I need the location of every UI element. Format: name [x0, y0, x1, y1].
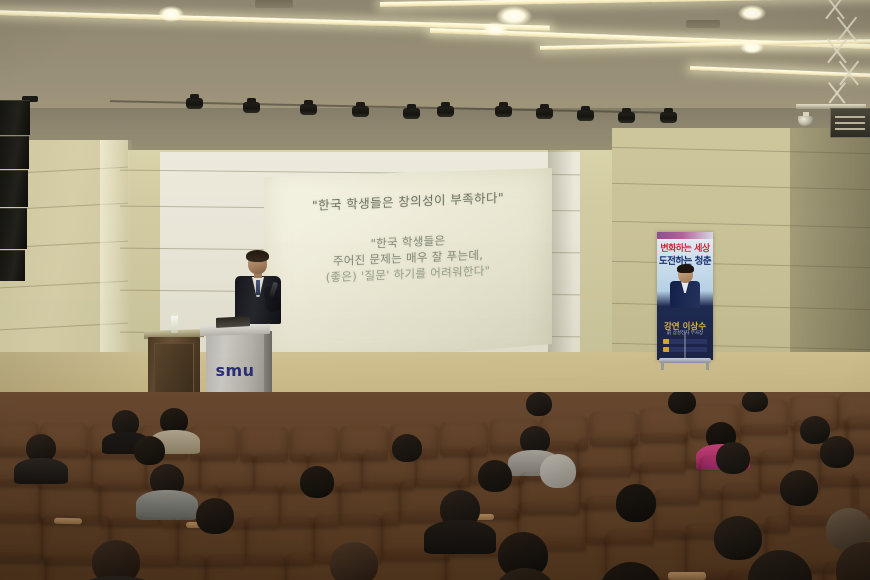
track-spotlight-icon — [495, 106, 512, 117]
audience-head — [392, 434, 422, 462]
track-spotlight-icon — [243, 102, 260, 113]
banner-portrait-photo — [670, 266, 700, 308]
podium-logo: smu — [204, 361, 266, 380]
water-bottle-cap — [172, 312, 177, 316]
audience-head — [714, 516, 762, 560]
audience-head — [526, 392, 552, 416]
track-spotlight-icon — [352, 106, 369, 117]
track-spotlight-icon — [536, 108, 553, 119]
banner-top-bar — [657, 232, 713, 239]
ceiling-light-glow — [482, 22, 508, 36]
banner-leg — [661, 362, 664, 370]
line-array-speaker-icon — [0, 96, 34, 286]
water-bottle — [171, 315, 178, 333]
ceiling-light-glow — [158, 6, 184, 22]
audience-head — [330, 542, 378, 580]
track-spotlight-icon — [300, 104, 317, 115]
audience-head — [540, 454, 576, 488]
seat — [366, 549, 446, 580]
track-spotlight-icon — [186, 98, 203, 109]
roll-up-banner: 변화하는 세상 도전하는 청춘 강연 이상수 前 삼성전자 부사장 — [657, 232, 713, 372]
track-spotlight-icon — [660, 112, 677, 123]
audience-head — [668, 392, 696, 414]
audience-head — [780, 470, 818, 506]
audience-head — [742, 392, 768, 412]
ceiling-light-glow — [740, 41, 764, 54]
cctv-dome-camera-icon — [798, 112, 814, 127]
seat — [0, 554, 46, 580]
audience-head — [92, 540, 140, 580]
audience-head — [716, 442, 750, 474]
ceiling-vent-icon — [686, 20, 720, 28]
audience-head — [196, 498, 234, 534]
auditorium-photo: "한국 학생들은 창의성이 부족하다" "한국 학생들은 주어진 문제는 매우 … — [0, 0, 870, 580]
track-spotlight-icon — [618, 112, 635, 123]
audience-head — [134, 436, 165, 465]
audience-shoulders — [136, 490, 198, 520]
banner-leg — [706, 362, 709, 370]
track-spotlight-icon — [577, 110, 594, 121]
wall-equipment-box — [830, 108, 870, 138]
audience-head — [56, 496, 94, 532]
projection-screen: "한국 학생들은 창의성이 부족하다" "한국 학생들은 주어진 문제는 매우 … — [264, 168, 552, 368]
banner-base — [659, 358, 711, 363]
audience-head — [478, 460, 512, 492]
seat — [206, 555, 286, 580]
ceiling-vent-icon — [255, 0, 293, 8]
track-spotlight-icon — [437, 106, 454, 117]
audience-seating — [0, 392, 870, 580]
track-spotlight-icon — [403, 108, 420, 119]
slide-text-block: "한국 학생들은 창의성이 부족하다" "한국 학생들은 주어진 문제는 매우 … — [270, 188, 546, 350]
ceiling-light-glow — [738, 5, 766, 21]
projector-scissor-lift — [818, 0, 870, 118]
audience-head — [820, 436, 854, 468]
audience-head — [616, 484, 656, 522]
audience-head — [300, 466, 334, 498]
